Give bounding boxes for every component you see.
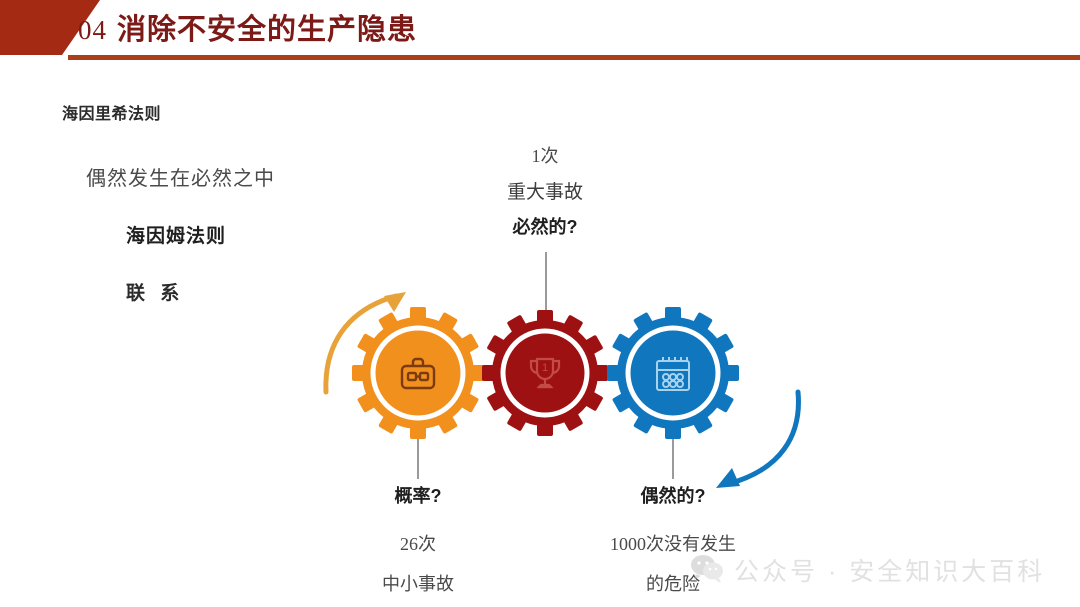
- connector-line-top: [545, 252, 547, 310]
- bottom-left-label: 中小事故: [318, 570, 518, 596]
- watermark-text: 公众号 · 安全知识大百科: [734, 552, 1045, 588]
- bottom-callout-left: 概率? 26次 中小事故: [318, 482, 518, 596]
- page-title: 04消除不安全的生产隐患: [78, 6, 417, 48]
- gear-orange: [348, 303, 488, 448]
- heinrich-law-heading: 海因里希法则: [62, 100, 392, 124]
- bottom-left-question: 概率?: [318, 482, 518, 508]
- section-number: 04: [78, 15, 107, 45]
- top-callout-question: 必然的?: [445, 213, 645, 239]
- section-title-text: 消除不安全的生产隐患: [117, 14, 417, 46]
- trophy-rank-number: 1: [542, 362, 548, 374]
- bottom-right-question: 偶然的?: [573, 482, 773, 508]
- watermark: 公众号 · 安全知识大百科: [690, 552, 1045, 588]
- left-statement-line: 偶然发生在必然之中: [86, 162, 392, 191]
- gear-blue: [603, 303, 743, 448]
- top-callout-count: 1次: [445, 142, 645, 168]
- page-header: 04消除不安全的生产隐患: [0, 0, 1080, 66]
- header-divider-rule: [68, 55, 1080, 60]
- gear-red: 1: [479, 307, 611, 444]
- wechat-logo-icon: [690, 553, 724, 588]
- left-text-block: 海因里希法则 偶然发生在必然之中 海因姆法则 联 系: [62, 100, 392, 305]
- heinrich-law-alt-heading: 海因姆法则: [126, 221, 392, 248]
- bottom-left-count: 26次: [318, 530, 518, 556]
- top-callout-label: 重大事故: [445, 177, 645, 204]
- top-callout: 1次 重大事故 必然的?: [445, 142, 645, 239]
